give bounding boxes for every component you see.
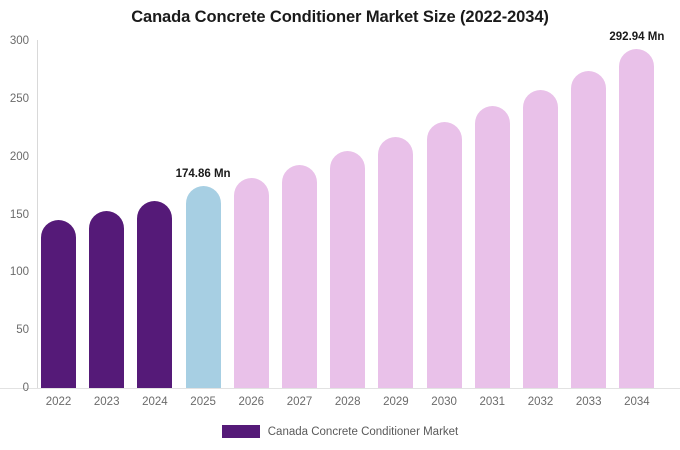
bar[interactable]	[475, 106, 510, 388]
bar[interactable]	[41, 220, 76, 388]
y-axis-tick-label: 100	[0, 266, 29, 278]
bar[interactable]	[137, 201, 172, 388]
y-axis-tick-label: 250	[0, 93, 29, 105]
bar-value-label: 174.86 Mn	[176, 168, 231, 180]
y-axis-tick-label: 200	[0, 151, 29, 163]
x-axis-tick-label: 2034	[607, 396, 667, 408]
bar-value-label: 292.94 Mn	[609, 31, 664, 43]
bar[interactable]	[523, 90, 558, 388]
bar[interactable]	[427, 122, 462, 388]
bar[interactable]	[378, 137, 413, 388]
legend-color-swatch	[222, 425, 260, 438]
bar[interactable]	[619, 49, 654, 388]
y-axis-tick-label: 0	[0, 382, 29, 394]
y-axis-tick-label: 300	[0, 35, 29, 47]
chart-container: Canada Concrete Conditioner Market Size …	[0, 0, 680, 450]
bar[interactable]	[571, 71, 606, 388]
bar[interactable]	[89, 211, 124, 388]
bar[interactable]	[282, 165, 317, 388]
bar[interactable]	[330, 151, 365, 388]
chart-legend: Canada Concrete Conditioner Market	[0, 425, 680, 438]
y-axis-line	[37, 40, 38, 389]
chart-title: Canada Concrete Conditioner Market Size …	[0, 8, 680, 27]
y-axis-tick-label: 150	[0, 209, 29, 221]
bar[interactable]	[234, 178, 269, 389]
bar[interactable]	[186, 186, 221, 388]
y-axis-tick-label: 50	[0, 324, 29, 336]
x-axis-line	[0, 388, 680, 389]
legend-item-label: Canada Concrete Conditioner Market	[268, 426, 459, 438]
